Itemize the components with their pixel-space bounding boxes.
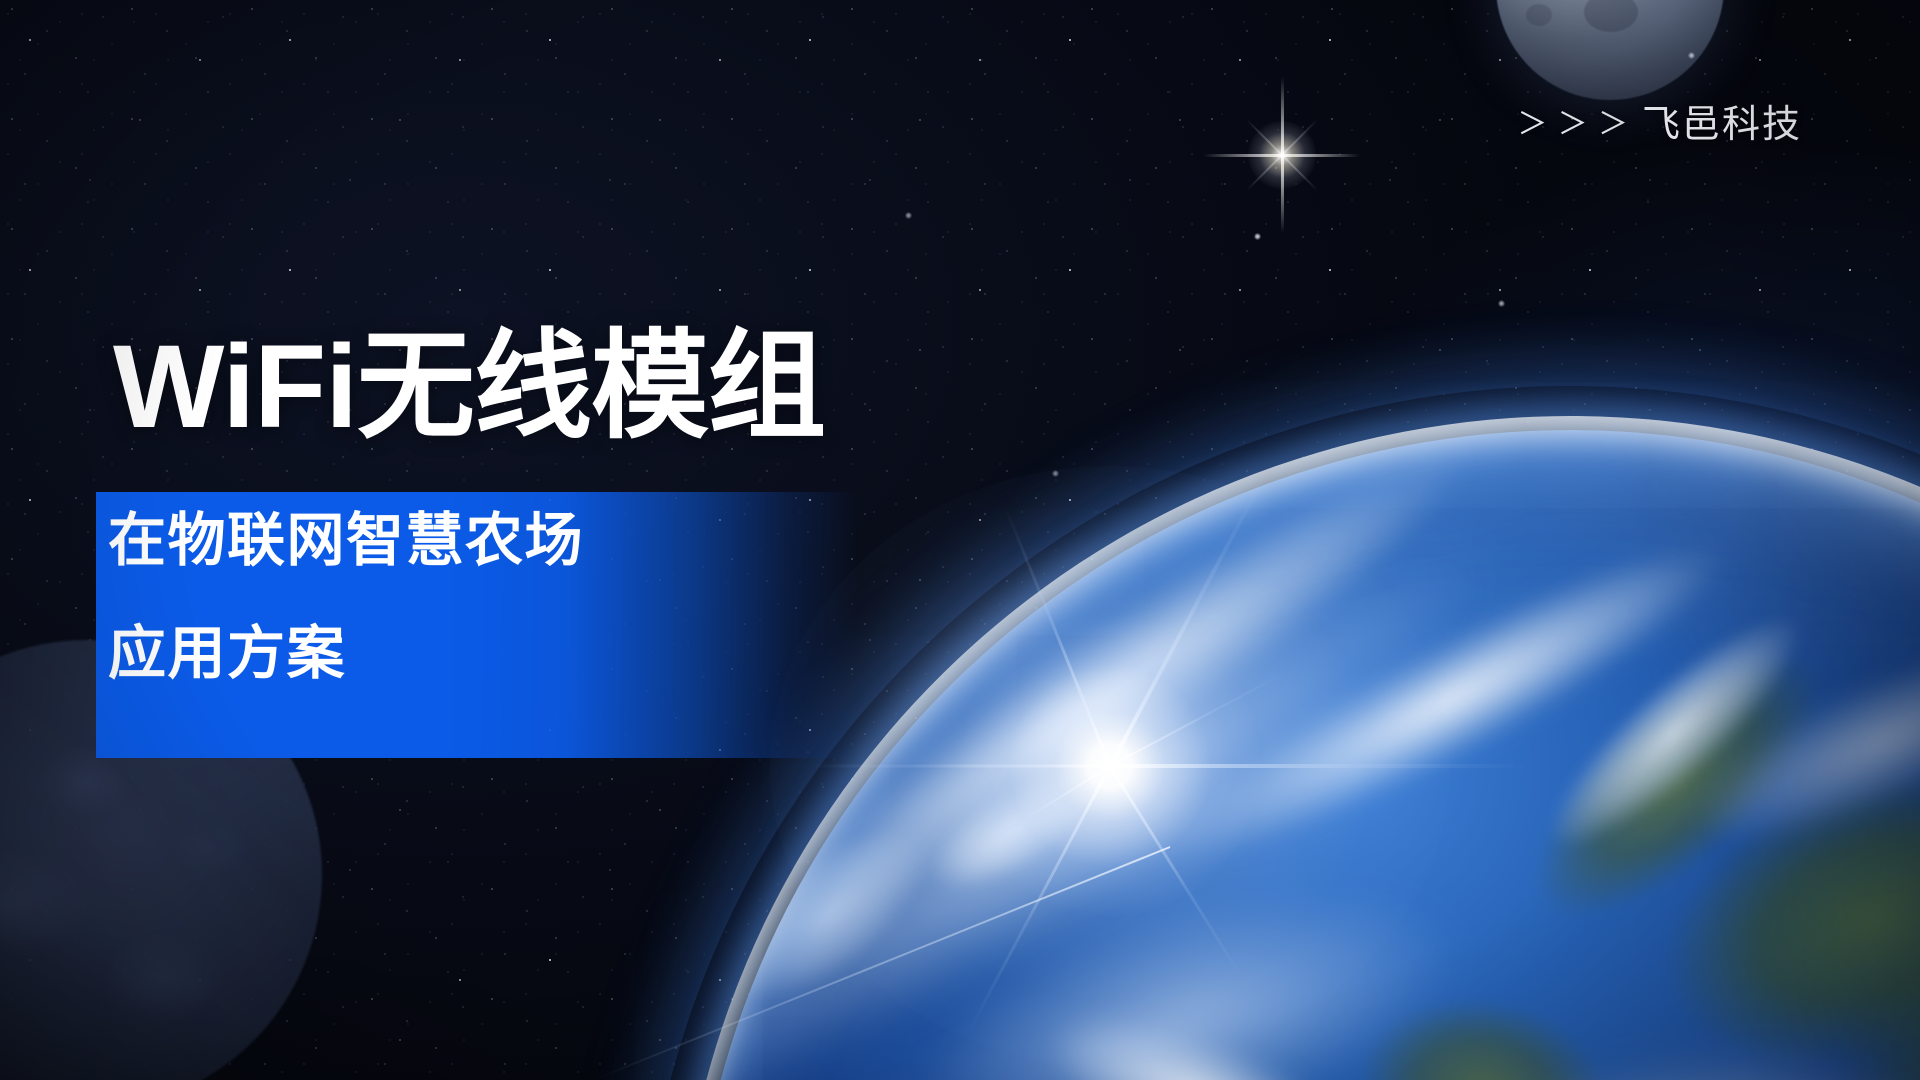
chevron-right-icon: ＞ ＞ ＞ xyxy=(1517,99,1629,143)
subtitle-line-2: 应用方案 xyxy=(108,625,584,683)
subtitle-line-1: 在物联网智慧农场 xyxy=(108,512,584,570)
brand-name: 飞邑科技 xyxy=(1642,93,1802,148)
brand-logotype: ＞ ＞ ＞ 飞邑科技 xyxy=(1517,93,1802,148)
small-star xyxy=(1254,233,1261,240)
page-title: WiFi无线模组 xyxy=(113,316,825,460)
subtitle-block: 在物联网智慧农场 应用方案 xyxy=(108,512,584,683)
small-star xyxy=(1052,470,1059,477)
star-core-glow xyxy=(1248,121,1316,189)
presentation-slide: ＞ ＞ ＞ 飞邑科技 WiFi无线模组 在物联网智慧农场 应用方案 xyxy=(0,0,1920,1080)
small-star xyxy=(1688,52,1695,59)
small-star xyxy=(1498,300,1505,307)
small-star xyxy=(905,212,912,219)
